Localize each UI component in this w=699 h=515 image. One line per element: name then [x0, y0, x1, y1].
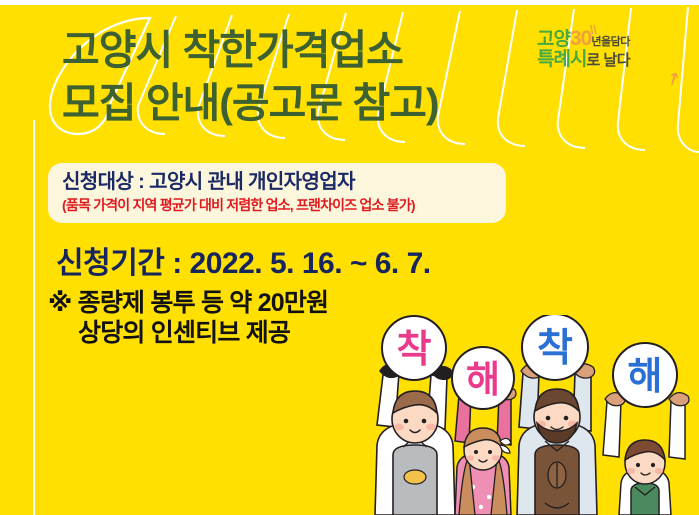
incentive-line-1: ※ 종량제 봉투 등 약 20만원 — [48, 288, 328, 318]
sign-3-char: 착 — [537, 327, 573, 370]
application-period: 신청기간 : 2022. 5. 16. ~ 6. 7. — [56, 238, 431, 282]
logo-spark-icon: \\ — [590, 23, 597, 37]
logo-anniversary-number: 30 — [570, 27, 591, 50]
logo-tagline-top: 년을담다 — [591, 36, 629, 48]
page-title: 고양시 착한가격업소 모집 안내(공고문 참고) — [62, 24, 439, 131]
logo-row-bottom: 특례시로 날다 — [537, 50, 677, 69]
sign-1: 착 — [382, 316, 446, 380]
incentive-line-2: 상당의 인센티브 제공 — [48, 318, 328, 349]
top-white-strip — [0, 0, 699, 5]
logo-swoosh-icon: ↗ — [663, 68, 685, 92]
title-line-1: 고양시 착한가격업소 — [62, 24, 439, 77]
logo-tagline-bottom: 로 날다 — [586, 52, 630, 69]
poster-canvas: 고양시 착한가격업소 모집 안내(공고문 참고) 고양30년을담다 특례시로 날… — [0, 0, 699, 515]
logo-row-top: 고양30년을담다 — [537, 28, 677, 49]
person-right — [603, 393, 689, 515]
sign-4: 해 — [613, 343, 677, 407]
sign-2-char: 해 — [466, 359, 500, 400]
person-barista — [517, 364, 597, 515]
eligibility-note-text: (품목 가격이 지역 평균가 대비 저렴한 업소, 프랜차이즈 업소 불가) — [62, 197, 494, 215]
awning-pole — [33, 120, 35, 515]
person-left — [375, 364, 455, 515]
eligibility-main-text: 신청대상 : 고양시 관내 개인자영업자 — [62, 170, 494, 194]
logo-city-name: 고양 — [537, 29, 570, 50]
city-logo: 고양30년을담다 특례시로 날다 \\ ↗ — [537, 28, 677, 82]
sign-1-char: 착 — [397, 329, 432, 371]
sign-4-char: 해 — [628, 356, 663, 398]
incentive-note: ※ 종량제 봉투 등 약 20만원 상당의 인센티브 제공 — [48, 288, 328, 349]
people-illustration: 착 해 — [369, 315, 699, 515]
logo-special-city: 특례시 — [537, 49, 586, 70]
eligibility-box: 신청대상 : 고양시 관내 개인자영업자 (품목 가격이 지역 평균가 대비 저… — [48, 163, 506, 223]
sign-2: 해 — [452, 347, 514, 409]
sign-3: 착 — [522, 315, 588, 380]
title-line-2: 모집 안내(공고문 참고) — [62, 77, 439, 130]
